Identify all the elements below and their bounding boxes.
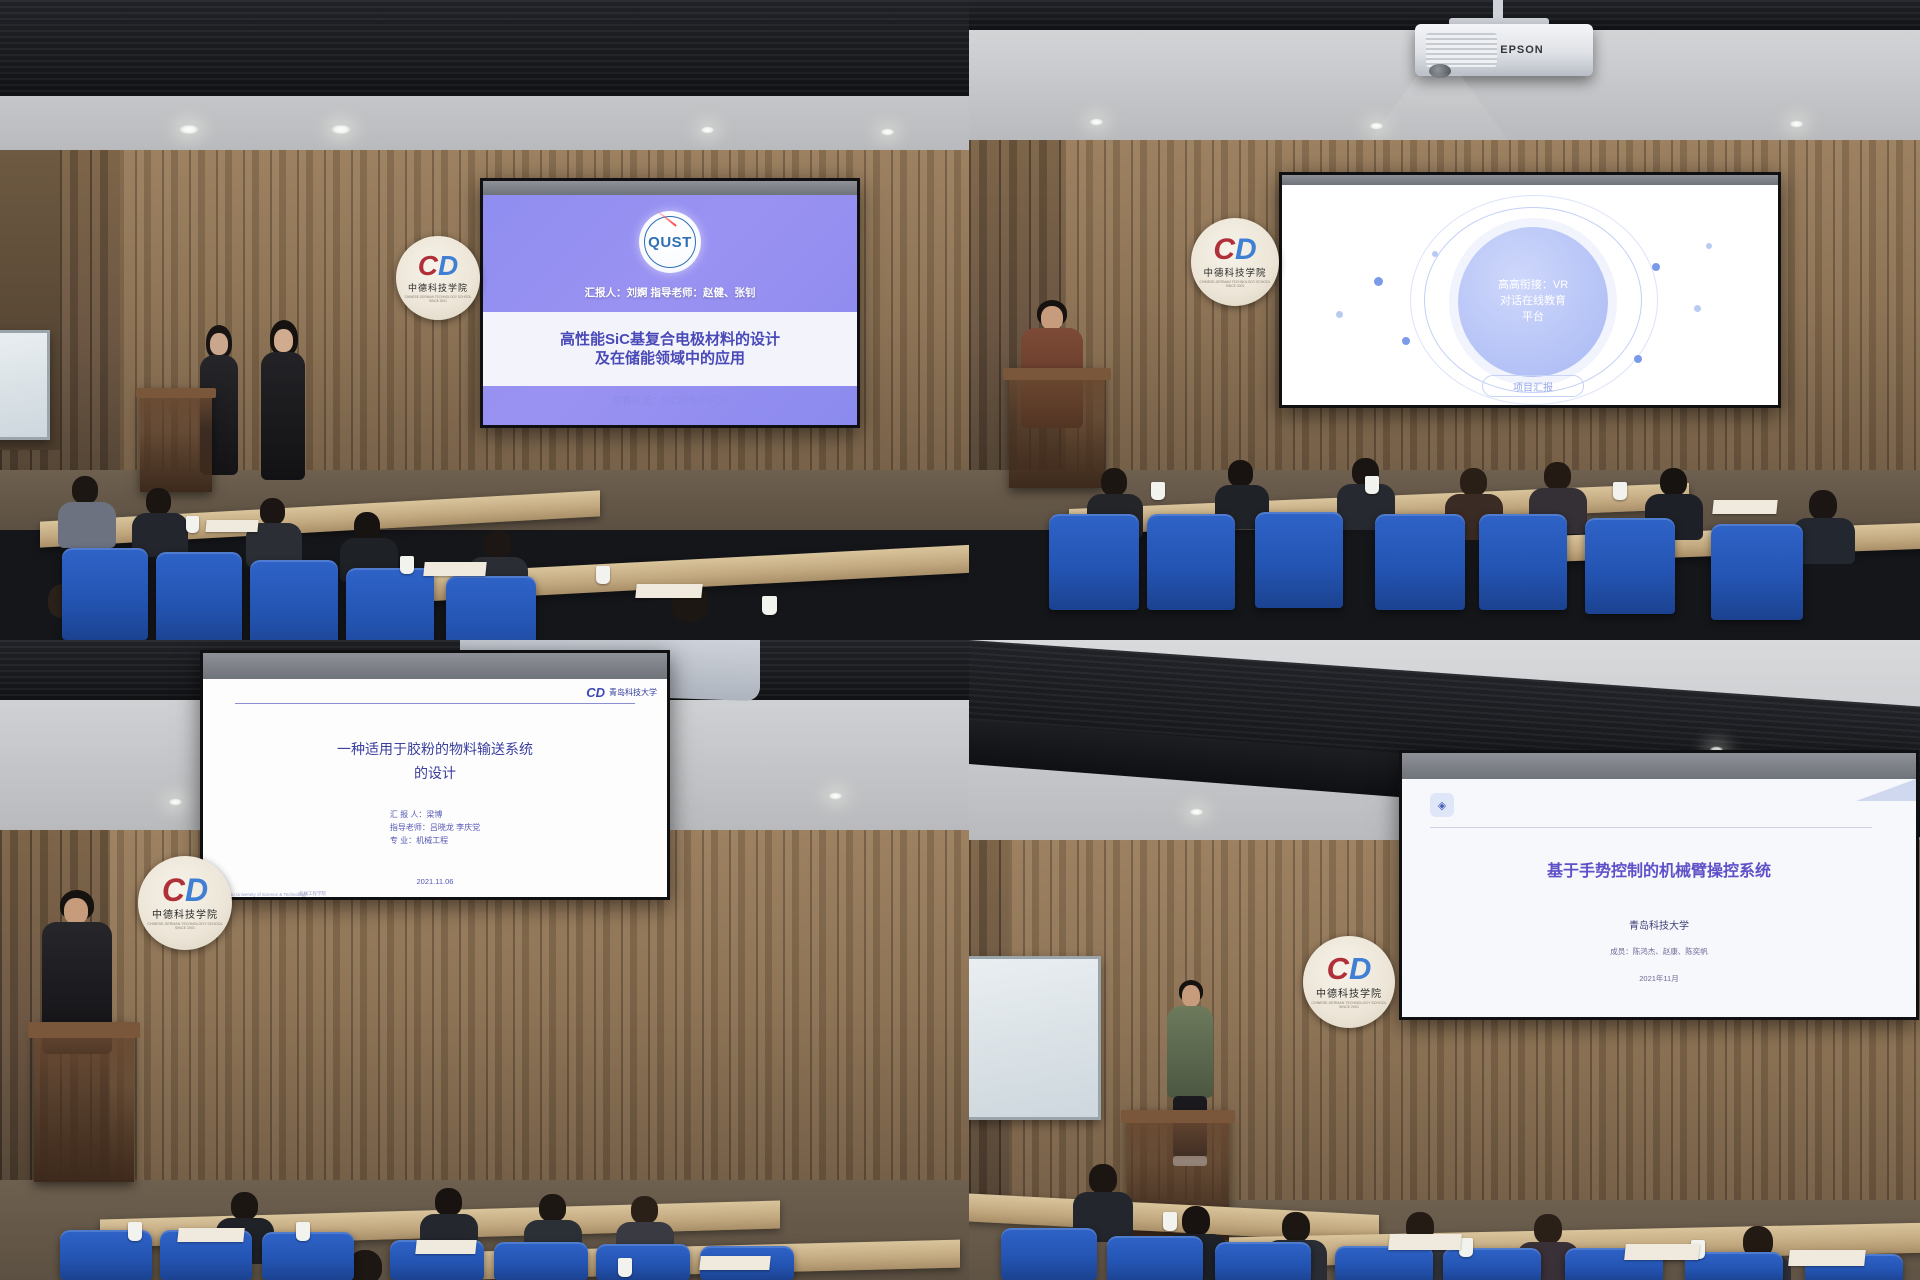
document-sheet xyxy=(1388,1234,1462,1250)
auditorium-chair xyxy=(62,548,148,640)
auditorium-chair xyxy=(1443,1248,1541,1280)
ceiling-downlight xyxy=(330,124,352,135)
panel-bottom-left: 一种适用于胶粉的物料输送系统 的设计 汇 报 人：梁博 指导老师：吕晓龙 李庆党… xyxy=(0,640,969,1280)
ceiling-projector: EPSON xyxy=(1415,24,1593,76)
wall-plaque-logo: CD 中德科技学院 CHINESE-GERMAN TECHNOLOGY SCHO… xyxy=(1303,936,1395,1028)
document-sheet xyxy=(699,1256,770,1270)
audience-person xyxy=(58,476,116,546)
wall-plaque-logo: CD 中德科技学院 CHINESE-GERMAN TECHNOLOGY SCHO… xyxy=(1191,218,1279,306)
projection-screen: 一种适用于胶粉的物料输送系统 的设计 汇 报 人：梁博 指导老师：吕晓龙 李庆党… xyxy=(200,650,670,900)
panel-top-left: QUST 汇报人：刘婀 指导老师：赵健、张钊 高性能SiC基复合电极材料的设计 … xyxy=(0,0,969,640)
slide-content: 一种适用于胶粉的物料输送系统 的设计 汇 报 人：梁博 指导老师：吕晓龙 李庆党… xyxy=(203,679,667,900)
paper-cup xyxy=(296,1222,310,1241)
paper-cup xyxy=(128,1222,142,1241)
document-sheet xyxy=(177,1228,244,1242)
auditorium-chair xyxy=(1215,1242,1311,1280)
slide-content: ◈ 基于手势控制的机械臂操控系统 青岛科技大学 成员：陈鸿杰、赵康、陈奕帆 20… xyxy=(1402,779,1916,1020)
auditorium-chair xyxy=(1711,524,1803,620)
paper-cup xyxy=(762,596,777,615)
projector-brand-label: EPSON xyxy=(1500,44,1544,56)
ceiling-downlight xyxy=(178,124,200,135)
whiteboard xyxy=(0,330,50,440)
auditorium-chair xyxy=(494,1242,588,1280)
slide-title-line2: 及在储能领域中的应用 xyxy=(595,349,745,369)
plaque-mark: CD xyxy=(162,876,208,905)
plaque-since-text: SINCE 2001 xyxy=(1339,1005,1359,1009)
slide-title: 基于手势控制的机械臂操控系统 xyxy=(1547,857,1771,881)
auditorium-chair xyxy=(156,552,242,640)
ceiling-dark-band xyxy=(0,0,969,96)
paper-cup xyxy=(618,1258,632,1277)
panel-bottom-right: ◈ 基于手势控制的机械臂操控系统 青岛科技大学 成员：陈鸿杰、赵康、陈奕帆 20… xyxy=(969,640,1920,1280)
document-sheet xyxy=(423,562,486,576)
paper-cup xyxy=(186,516,199,533)
auditorium-chair xyxy=(596,1244,690,1280)
slide-meta-advisor: 指导老师：吕晓龙 李庆党 xyxy=(390,821,480,834)
speaker-person xyxy=(258,320,308,488)
plaque-since-text: SINCE 2001 xyxy=(429,299,447,303)
document-sheet xyxy=(1712,500,1777,514)
audience-person xyxy=(132,488,188,554)
slide-date: 2021年11月 xyxy=(1639,973,1678,984)
projection-screen: ◈ 基于手势控制的机械臂操控系统 青岛科技大学 成员：陈鸿杰、赵康、陈奕帆 20… xyxy=(1399,750,1919,1020)
slide-content: 高高衔接：VR 对话在线教育 平台 项目汇报 xyxy=(1282,185,1778,408)
university-logo-mark: CD xyxy=(586,685,605,700)
lectern xyxy=(34,1022,134,1182)
slide-byline: 汇报人：刘婀 指导老师：赵健、张钊 xyxy=(585,285,756,300)
plaque-since-text: SINCE 2001 xyxy=(1226,284,1245,288)
document-sheet xyxy=(415,1240,476,1254)
ceiling-downlight xyxy=(880,128,895,136)
auditorium-chair xyxy=(1585,518,1675,614)
lectern xyxy=(140,388,212,492)
paper-cup xyxy=(1613,482,1627,500)
slide-date: 2021.11.06 xyxy=(417,877,454,886)
vr-line-3: 平台 xyxy=(1498,310,1568,326)
plaque-cn-text: 中德科技学院 xyxy=(1316,985,1382,1000)
ceiling-downlight xyxy=(828,792,843,800)
auditorium-chair xyxy=(250,560,338,640)
auditorium-chair xyxy=(1001,1228,1097,1280)
plaque-mark: CD xyxy=(1213,236,1256,263)
vr-pill-label: 项目汇报 xyxy=(1482,375,1584,397)
projection-screen: QUST 汇报人：刘婀 指导老师：赵健、张钊 高性能SiC基复合电极材料的设计 … xyxy=(480,178,860,428)
wall-plaque-logo: CD 中德科技学院 CHINESE-GERMAN TECHNOLOGY SCHO… xyxy=(396,236,480,320)
projection-screen: 高高衔接：VR 对话在线教育 平台 项目汇报 xyxy=(1279,172,1781,408)
vr-circle-text: 高高衔接：VR 对话在线教育 平台 xyxy=(1498,278,1568,326)
slide-subtitle: 青岛科技大学 xyxy=(1629,917,1689,932)
auditorium-chair xyxy=(1255,512,1343,608)
slide-members: 成员：陈鸿杰、赵康、陈奕帆 xyxy=(1610,946,1708,957)
slide-title-line1: 一种适用于胶粉的物料输送系统 xyxy=(337,738,533,762)
plaque-cn-text: 中德科技学院 xyxy=(408,281,468,294)
slide-meta-major: 专 业：机械工程 xyxy=(390,834,480,847)
auditorium-chair xyxy=(446,576,536,640)
photo-collage: QUST 汇报人：刘婀 指导老师：赵健、张钊 高性能SiC基复合电极材料的设计 … xyxy=(0,0,1920,1280)
paper-cup xyxy=(596,566,610,584)
plaque-mark: CD xyxy=(1327,955,1372,983)
ceiling-downlight xyxy=(1189,808,1204,816)
vr-line-1: 高高衔接：VR xyxy=(1498,278,1568,294)
document-sheet xyxy=(205,520,258,532)
ceiling-downlight xyxy=(1789,120,1804,128)
paper-cup xyxy=(1365,476,1379,494)
auditorium-chair xyxy=(1479,514,1567,610)
document-sheet xyxy=(1788,1250,1866,1266)
ceiling-downlight xyxy=(168,798,183,806)
slide-title-line1: 高性能SiC基复合电极材料的设计 xyxy=(560,330,780,350)
ceiling-downlight xyxy=(1089,118,1104,126)
plaque-since-text: SINCE 2001 xyxy=(175,926,195,930)
slide-content: QUST 汇报人：刘婀 指导老师：赵健、张钊 高性能SiC基复合电极材料的设计 … xyxy=(483,195,857,428)
document-sheet xyxy=(635,584,702,598)
slide-team: 参赛队伍：SiC超电研究团 xyxy=(612,392,728,407)
auditorium-chair xyxy=(1147,514,1235,610)
university-logo: CD 青岛科技大学 xyxy=(586,685,657,700)
slide-title-line2: 的设计 xyxy=(414,762,456,786)
slide-footer-right: 机械工程学院 xyxy=(299,891,326,897)
wall-plaque-logo: CD 中德科技学院 CHINESE-GERMAN TECHNOLOGY SCHO… xyxy=(138,856,232,950)
auditorium-chair xyxy=(346,568,434,640)
auditorium-chair xyxy=(1335,1246,1433,1280)
plaque-mark: CD xyxy=(418,253,458,278)
slide-meta-reporter: 汇 报 人：梁博 xyxy=(390,808,480,821)
qust-badge-text: QUST xyxy=(648,234,692,251)
paper-cup xyxy=(400,556,414,574)
vr-main-circle: 高高衔接：VR 对话在线教育 平台 xyxy=(1458,227,1608,377)
panel-top-right: EPSON 高高衔接：VR 对话在线教育 平台 项目汇报 xyxy=(969,0,1920,640)
whiteboard xyxy=(969,956,1101,1120)
slide-title-box: 高性能SiC基复合电极材料的设计 及在储能领域中的应用 xyxy=(483,312,857,386)
plaque-cn-text: 中德科技学院 xyxy=(1203,265,1266,279)
plaque-cn-text: 中德科技学院 xyxy=(152,906,218,921)
auditorium-chair xyxy=(1049,514,1139,610)
paper-cup xyxy=(1151,482,1165,500)
document-sheet xyxy=(1624,1244,1700,1260)
paper-cup xyxy=(1163,1212,1177,1231)
vr-line-2: 对话在线教育 xyxy=(1498,294,1568,310)
auditorium-chair xyxy=(1375,514,1465,610)
university-logo-text: 青岛科技大学 xyxy=(609,687,657,698)
slide-corner-badge: ◈ xyxy=(1430,793,1454,817)
ceiling-downlight xyxy=(700,126,715,134)
auditorium-chair xyxy=(1107,1236,1203,1280)
